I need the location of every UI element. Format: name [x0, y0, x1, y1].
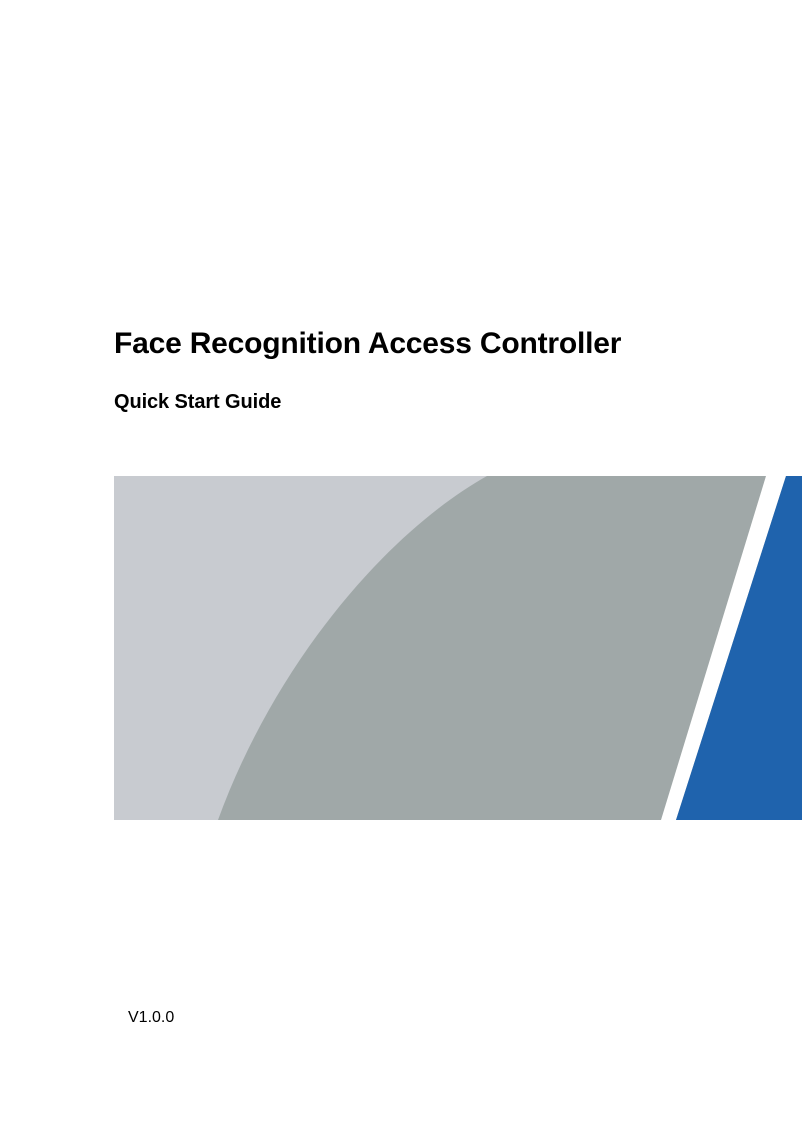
cover-banner-svg	[114, 476, 802, 820]
title-block: Face Recognition Access Controller Quick…	[114, 325, 734, 415]
document-version: V1.0.0	[128, 1008, 174, 1028]
document-title: Face Recognition Access Controller	[114, 325, 734, 363]
document-cover-page: Face Recognition Access Controller Quick…	[0, 0, 802, 1134]
cover-banner-graphic	[114, 476, 802, 820]
document-subtitle: Quick Start Guide	[114, 363, 734, 415]
